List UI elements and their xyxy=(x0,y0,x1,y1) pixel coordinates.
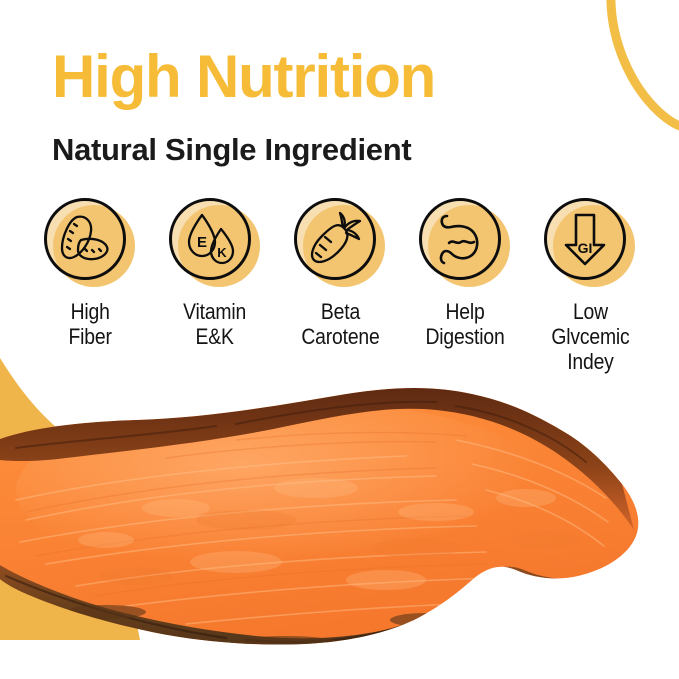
water-droplets-ek-icon: E K xyxy=(169,198,251,280)
yellow-curve-swoosh-icon xyxy=(459,0,679,170)
benefit-label-line2: Digestion xyxy=(425,324,504,349)
infographic-canvas: High Nutrition Natural Single Ingredient xyxy=(0,0,679,679)
benefit-label-line3: Indey xyxy=(551,349,629,374)
dried-sweet-potato-chip xyxy=(0,380,679,670)
benefit-badge xyxy=(294,198,386,290)
stomach-icon xyxy=(419,198,501,280)
benefit-label-line1: Vitamin xyxy=(184,299,247,324)
page-subtitle: Natural Single Ingredient xyxy=(52,132,411,168)
page-title: High Nutrition xyxy=(52,46,435,108)
sweet-potato-icon xyxy=(44,198,126,280)
benefit-label: Low Glvcemic Indey xyxy=(551,299,629,374)
benefit-label-line1: High xyxy=(68,299,111,324)
arrow-letters-gi: GI xyxy=(578,240,593,256)
benefit-label-line2: Glvcemic xyxy=(551,324,629,349)
benefit-label: Beta Carotene xyxy=(301,299,379,349)
benefit-label-line2: Carotene xyxy=(301,324,379,349)
benefit-item-high-fiber: High Fiber xyxy=(28,198,152,349)
benefit-label-line2: E&K xyxy=(184,324,247,349)
droplet-letter-e: E xyxy=(197,234,207,251)
benefit-item-low-glycemic-index: GI Low Glvcemic Indey xyxy=(528,198,652,374)
benefit-label: Vitamin E&K xyxy=(184,299,247,349)
benefit-label: High Fiber xyxy=(68,299,111,349)
benefit-label-line1: Help xyxy=(425,299,504,324)
benefits-row: High Fiber E K Vitamin E&K xyxy=(28,198,652,374)
benefit-badge xyxy=(419,198,511,290)
benefit-badge xyxy=(44,198,136,290)
benefit-label-line1: Beta xyxy=(301,299,379,324)
benefit-badge: GI xyxy=(544,198,636,290)
benefit-item-vitamin-ek: E K Vitamin E&K xyxy=(153,198,277,349)
benefit-label-line1: Low xyxy=(551,299,629,324)
down-arrow-gi-icon: GI xyxy=(544,198,626,280)
benefit-label-line2: Fiber xyxy=(68,324,111,349)
benefit-label: Help Digestion xyxy=(425,299,504,349)
droplet-letter-k: K xyxy=(217,245,227,260)
benefit-item-beta-carotene: Beta Carotene xyxy=(278,198,402,349)
carrot-icon xyxy=(294,198,376,280)
benefit-item-help-digestion: Help Digestion xyxy=(403,198,527,349)
benefit-badge: E K xyxy=(169,198,261,290)
